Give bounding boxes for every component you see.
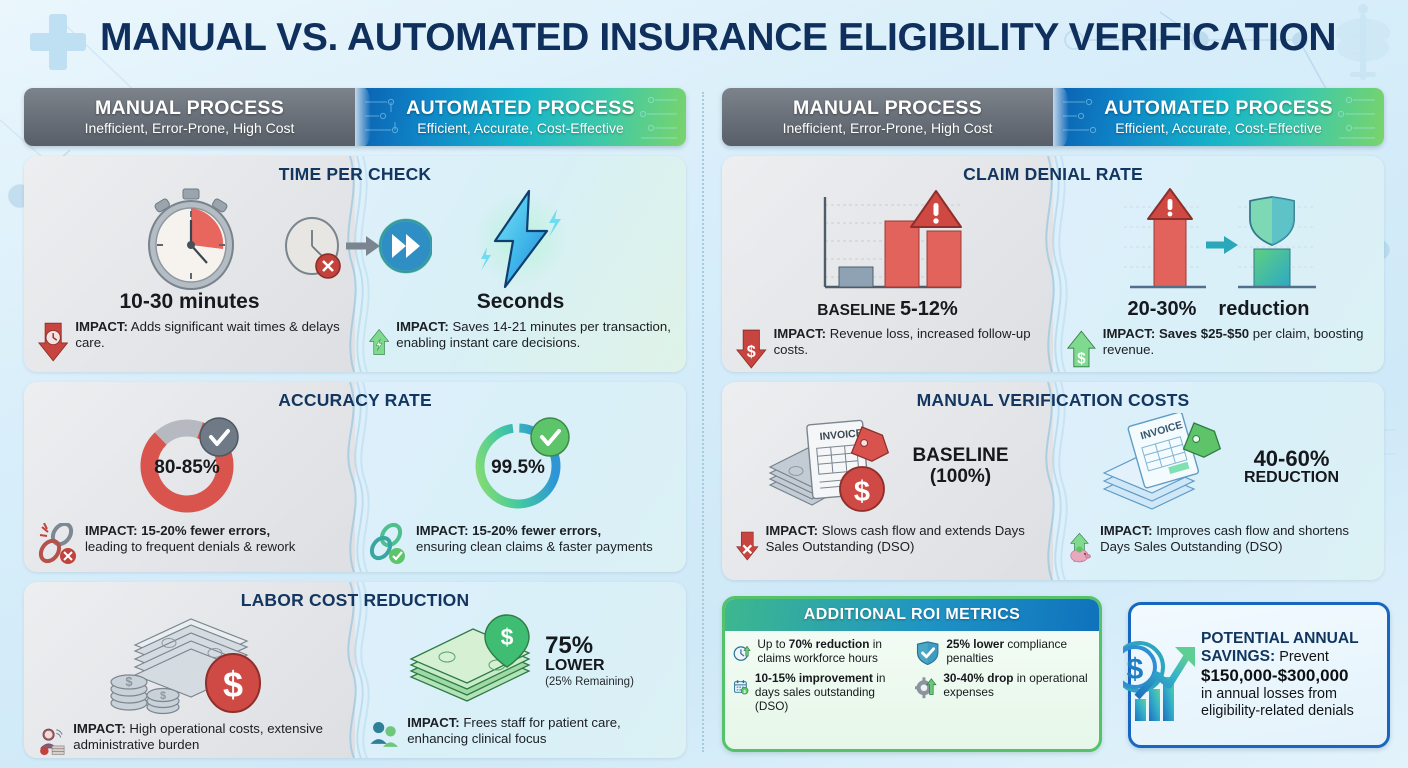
impact-body: ensuring clean claims & faster payments	[416, 539, 653, 554]
impact-label: IMPACT:	[75, 319, 128, 334]
circuit-pattern-icon	[355, 88, 686, 146]
verif-automated-impact-text: IMPACT: Improves cash flow and shortens …	[1100, 523, 1370, 555]
impact-body: leading to frequent denials & rework	[85, 539, 295, 554]
caduceus-icon	[1328, 2, 1398, 84]
savings-text: POTENTIAL ANNUAL SAVINGS: Prevent $150,0…	[1201, 630, 1379, 721]
page-header: MANUAL VS. AUTOMATED INSURANCE ELIGIBILI…	[0, 0, 1408, 86]
labor-automated-value: 75%	[545, 634, 634, 658]
savings-amount: $150,000-$300,000	[1201, 666, 1379, 686]
red-down-arrow-clock-icon	[38, 319, 68, 365]
panel-title-time-per-check: TIME PER CHECK	[24, 164, 686, 185]
impact-label: IMPACT:	[1103, 326, 1156, 341]
manual-process-header: MANUAL PROCESS Inefficient, Error-Prone,…	[24, 88, 355, 146]
cash-stack-coins-dollar-icon: $ $ $	[105, 613, 275, 719]
verif-manual-value: BASELINE	[912, 446, 1008, 467]
denial-automated-value-row: 20-30% reduction	[1127, 299, 1309, 320]
labor-manual-impact-text: IMPACT: High operational costs, extensiv…	[73, 721, 341, 753]
roi-item-workforce-hours: Up to 70% reduction in claims workforce …	[733, 638, 909, 668]
circuit-pattern-icon	[1053, 88, 1384, 146]
warning-to-shield-icon	[1114, 187, 1324, 299]
manual-process-header-right: MANUAL PROCESS Inefficient, Error-Prone,…	[722, 88, 1053, 146]
accuracy-automated-value: 99.5%	[491, 457, 545, 478]
verif-automated-value: 40-60%	[1244, 447, 1339, 470]
verif-automated-half: INVOICE	[1053, 413, 1384, 571]
denial-manual-value: 5-12%	[900, 298, 958, 320]
roi-text-dso-improvement: 10-15% improvement in days sales outstan…	[755, 672, 909, 714]
labor-automated-value-sub: LOWER	[545, 658, 634, 674]
overworked-staff-icon	[38, 721, 66, 758]
labor-manual-impact: IMPACT: High operational costs, extensiv…	[34, 721, 345, 758]
roi-bold: 70% reduction	[789, 637, 870, 651]
denial-manual-value-row: BASELINE 5-12%	[817, 299, 958, 320]
red-donut-gauge: 80-85%	[131, 413, 249, 519]
verif-automated-value-sub: REDUCTION	[1244, 470, 1339, 487]
savings-tail: in annual losses from eligibility-relate…	[1201, 686, 1354, 719]
dollar-coin-growth-chart-icon: $	[1123, 627, 1197, 723]
clock-to-fastforward-transition-icon	[282, 214, 432, 280]
automated-process-header-right: AUTOMATED PROCESS Efficient, Accurate, C…	[1053, 88, 1384, 146]
medical-cross-icon	[30, 14, 86, 70]
verif-manual-half: INVOICE	[722, 413, 1053, 571]
green-donut-gauge: 99.5%	[462, 413, 580, 519]
denial-manual-half: BASELINE 5-12% $ IMPACT: Revenue loss, i…	[722, 187, 1053, 372]
accuracy-automated-impact: IMPACT: 15-20% fewer errors,ensuring cle…	[365, 523, 676, 565]
impact-label: IMPACT:	[766, 523, 819, 538]
potential-annual-savings-card: $ POTENTIAL ANNUAL SAVINGS: Prevent $150…	[1128, 602, 1390, 748]
labor-automated-half: $ 75% LOWER (25% Remaining)	[355, 613, 686, 758]
column-divider	[702, 92, 704, 752]
green-cash-dollar-pin-icon: $	[407, 613, 539, 709]
svg-text:$: $	[159, 690, 165, 702]
roi-card-title: ADDITIONAL ROI METRICS	[725, 599, 1099, 631]
time-manual-impact: IMPACT: Adds significant wait times & de…	[34, 319, 345, 365]
page-title: MANUAL VS. AUTOMATED INSURANCE ELIGIBILI…	[100, 16, 1336, 60]
panel-title-claim-denial-rate: CLAIM DENIAL RATE	[722, 164, 1384, 185]
lightning-bolt-icon	[461, 187, 581, 291]
shield-check-icon	[915, 638, 940, 668]
roi-item-dso-improvement: $ 10-15% improvement in days sales outst…	[733, 672, 909, 714]
accuracy-manual-value: 80-85%	[154, 457, 220, 478]
right-column: MANUAL PROCESS Inefficient, Error-Prone,…	[722, 88, 1384, 580]
accuracy-automated-impact-text: IMPACT: 15-20% fewer errors,ensuring cle…	[416, 523, 653, 555]
svg-text:$: $	[125, 674, 133, 689]
clinician-patient-icon	[369, 715, 400, 755]
svg-text:$: $	[743, 689, 746, 695]
verif-manual-impact: IMPACT: Slows cash flow and extends Days…	[732, 523, 1043, 569]
impact-label: IMPACT:	[774, 326, 827, 341]
roi-lead: Up to	[757, 637, 788, 651]
impact-label: IMPACT: 15-20% fewer errors,	[85, 523, 270, 538]
impact-label: IMPACT: 15-20% fewer errors,	[416, 523, 601, 538]
stopwatch-icon	[135, 187, 245, 291]
svg-text:$: $	[854, 476, 870, 508]
panel-manual-verification-costs: MANUAL VERIFICATION COSTS INVOICE	[722, 382, 1384, 580]
roi-bold: 10-15% improvement	[755, 671, 873, 685]
accuracy-manual-impact: IMPACT: 15-20% fewer errors,leading to f…	[34, 523, 345, 565]
roi-text-compliance-penalties: 25% lower compliance penalties	[946, 638, 1091, 666]
panel-time-per-check: TIME PER CHECK	[24, 156, 686, 372]
panel-labor-cost-reduction: LABOR COST REDUCTION	[24, 582, 686, 758]
additional-roi-metrics-card: ADDITIONAL ROI METRICS Up to 70% reducti…	[722, 596, 1102, 752]
green-up-arrow-dollar-icon: $	[1067, 326, 1096, 372]
impact-label: IMPACT:	[1100, 523, 1153, 538]
green-up-arrow-bolt-icon	[369, 319, 389, 365]
left-column: MANUAL PROCESS Inefficient, Error-Prone,…	[24, 88, 686, 758]
process-header-right: MANUAL PROCESS Inefficient, Error-Prone,…	[722, 88, 1384, 146]
roi-bold: 25% lower	[946, 637, 1004, 651]
savings-lead: Prevent	[1275, 649, 1329, 665]
svg-text:$: $	[1077, 350, 1086, 367]
gear-up-arrow-icon	[915, 672, 937, 702]
time-manual-impact-text: IMPACT: Adds significant wait times & de…	[75, 319, 341, 351]
verif-manual-value-sub: (100%)	[912, 467, 1008, 488]
panel-title-labor-cost-reduction: LABOR COST REDUCTION	[24, 590, 686, 611]
clock-up-arrow-icon	[733, 638, 751, 668]
accuracy-automated-half: 99.5% IMPACT: 15-20% fewer errors,ensuri…	[355, 413, 686, 565]
denial-manual-impact: $ IMPACT: Revenue loss, increased follow…	[732, 326, 1043, 372]
red-bar-chart-warning-icon	[803, 187, 973, 299]
denial-automated-impact-text: IMPACT: Saves $25-$50 per claim, boostin…	[1103, 326, 1370, 358]
roi-item-operational-expenses: 30-40% drop in operational expenses	[915, 672, 1091, 714]
process-header-left: MANUAL PROCESS Inefficient, Error-Prone,…	[24, 88, 686, 146]
labor-manual-half: $ $ $	[24, 613, 355, 758]
manual-process-title: MANUAL PROCESS	[793, 98, 982, 118]
verif-manual-impact-text: IMPACT: Slows cash flow and extends Days…	[766, 523, 1039, 555]
denial-manual-value-prefix: BASELINE	[817, 302, 900, 319]
svg-text:$: $	[747, 343, 756, 361]
denial-automated-half: 20-30% reduction $ IMPACT: Saves $25-$50…	[1053, 187, 1384, 372]
roi-text-operational-expenses: 30-40% drop in operational expenses	[943, 672, 1091, 700]
manual-process-subtitle: Inefficient, Error-Prone, High Cost	[783, 120, 993, 136]
impact-label: IMPACT:	[73, 721, 126, 736]
svg-text:$: $	[222, 664, 242, 705]
verif-automated-impact: IMPACT: Improves cash flow and shortens …	[1063, 523, 1374, 571]
labor-automated-impact: IMPACT: Frees staff for patient care, en…	[365, 715, 676, 755]
time-automated-impact: IMPACT: Saves 14-21 minutes per transact…	[365, 319, 676, 365]
svg-text:$: $	[1127, 653, 1144, 686]
blue-invoice-stack-icon: INVOICE	[1098, 413, 1238, 521]
labor-automated-impact-text: IMPACT: Frees staff for patient care, en…	[407, 715, 672, 747]
manual-process-subtitle: Inefficient, Error-Prone, High Cost	[85, 120, 295, 136]
red-down-arrow-x-icon	[736, 523, 759, 569]
piggy-bank-green-arrow-icon	[1067, 523, 1093, 571]
roi-item-compliance-penalties: 25% lower compliance penalties	[915, 638, 1091, 668]
time-automated-impact-text: IMPACT: Saves 14-21 minutes per transact…	[396, 319, 672, 351]
denial-automated-impact: $ IMPACT: Saves $25-$50 per claim, boost…	[1063, 326, 1374, 372]
denial-automated-value: 20-30%	[1127, 299, 1196, 320]
time-automated-value: Seconds	[477, 291, 565, 313]
svg-text:$: $	[501, 624, 514, 650]
impact-bold: Saves $25-$50	[1155, 326, 1249, 341]
denial-manual-impact-text: IMPACT: Revenue loss, increased follow-u…	[774, 326, 1039, 358]
automated-process-header: AUTOMATED PROCESS Efficient, Accurate, C…	[355, 88, 686, 146]
denial-automated-value-sub: reduction	[1218, 299, 1309, 320]
broken-chain-icon	[38, 523, 78, 565]
invoice-stack-dollar-icon: INVOICE	[766, 413, 908, 521]
impact-label: IMPACT:	[396, 319, 449, 334]
labor-automated-value-note: (25% Remaining)	[545, 677, 634, 689]
linked-chain-check-icon	[369, 523, 409, 565]
manual-process-title: MANUAL PROCESS	[95, 98, 284, 118]
panel-title-accuracy-rate: ACCURACY RATE	[24, 390, 686, 411]
calendar-dollar-icon: $	[733, 672, 749, 702]
accuracy-manual-impact-text: IMPACT: 15-20% fewer errors,leading to f…	[85, 523, 295, 555]
impact-label: IMPACT:	[407, 715, 460, 730]
panel-title-manual-verification-costs: MANUAL VERIFICATION COSTS	[722, 390, 1384, 411]
red-down-arrow-dollar-icon: $	[736, 326, 767, 372]
roi-text-workforce-hours: Up to 70% reduction in claims workforce …	[757, 638, 909, 666]
roi-bold: 30-40% drop	[943, 671, 1013, 685]
accuracy-manual-half: 80-85% IMPACT: 15-20% fewer errors,leadi…	[24, 413, 355, 565]
panel-accuracy-rate: ACCURACY RATE 80-85%	[24, 382, 686, 572]
panel-claim-denial-rate: CLAIM DENIAL RATE	[722, 156, 1384, 372]
